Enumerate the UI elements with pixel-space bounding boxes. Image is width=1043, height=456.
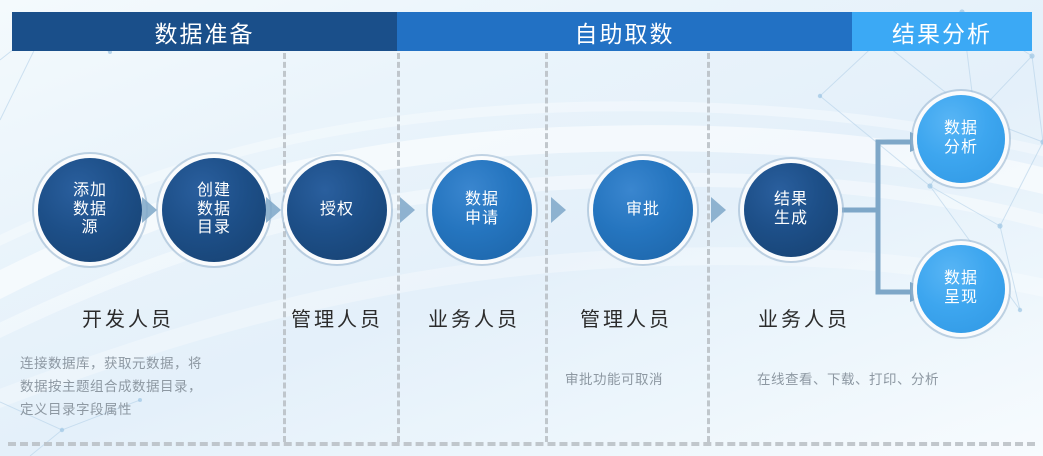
role-label-business-1: 业务人员 — [428, 303, 520, 332]
node-data-analysis-line-2: 分析 — [944, 139, 978, 158]
phase-header-analyze: 结果分析 — [852, 12, 1032, 51]
node-data-request-line-2: 申请 — [465, 210, 499, 229]
node-authorize[interactable]: 授权 — [287, 160, 387, 260]
description-result: 在线查看、下载、打印、分析 — [757, 368, 1027, 391]
node-data-presentation-line-2: 呈现 — [944, 289, 978, 308]
node-data-request-line-1: 数据 — [465, 191, 499, 210]
arrow-authorize-to-request-icon — [400, 197, 415, 223]
node-data-presentation[interactable]: 数据 呈现 — [917, 245, 1005, 333]
role-label-admin-2: 管理人员 — [580, 303, 672, 332]
phase-header-analyze-label: 结果分析 — [892, 15, 992, 49]
phase-header-fetch: 自助取数 — [397, 12, 852, 51]
node-add-source-line-2: 数据 — [73, 201, 107, 220]
node-add-source-line-1: 添加 — [73, 182, 107, 201]
description-approval: 审批功能可取消 — [565, 368, 715, 391]
arrow-approval-to-result-icon — [711, 197, 726, 223]
node-authorize-line-1: 授权 — [320, 201, 354, 220]
node-result-generation-line-2: 生成 — [774, 210, 808, 229]
node-approval-line-1: 审批 — [626, 201, 660, 220]
arrow-catalog-to-authorize-icon — [266, 197, 281, 223]
arrow-request-to-approval-icon — [551, 197, 566, 223]
description-prepare: 连接数据库，获取元数据，将 数据按主题组合成数据目录， 定义目录字段属性 — [20, 352, 280, 422]
bottom-divider — [8, 442, 1035, 446]
node-approval[interactable]: 审批 — [593, 160, 693, 260]
node-data-analysis[interactable]: 数据 分析 — [917, 95, 1005, 183]
role-label-business-2: 业务人员 — [758, 303, 850, 332]
node-create-catalog-line-2: 数据 — [197, 201, 231, 220]
node-add-source[interactable]: 添加 数据 源 — [38, 158, 142, 262]
node-result-generation-line-1: 结果 — [774, 191, 808, 210]
node-create-catalog-line-3: 目录 — [197, 219, 231, 238]
role-label-admin-1: 管理人员 — [291, 303, 383, 332]
arrow-add-to-catalog-icon — [142, 197, 157, 223]
divider-3 — [545, 53, 548, 442]
node-create-catalog[interactable]: 创建 数据 目录 — [162, 158, 266, 262]
diagram-canvas: 数据准备 自助取数 结果分析 添加 数据 源 创建 数据 目录 — [0, 0, 1043, 456]
role-label-developer-1: 开发人员 — [82, 303, 174, 332]
phase-header-prepare-label: 数据准备 — [155, 15, 255, 49]
node-data-analysis-line-1: 数据 — [944, 120, 978, 139]
divider-1 — [283, 53, 286, 442]
node-add-source-line-3: 源 — [73, 219, 107, 238]
phase-header-fetch-label: 自助取数 — [575, 15, 675, 49]
node-result-generation[interactable]: 结果 生成 — [744, 163, 838, 257]
phase-header-prepare: 数据准备 — [12, 12, 397, 51]
divider-2 — [397, 53, 400, 442]
node-data-presentation-line-1: 数据 — [944, 270, 978, 289]
node-create-catalog-line-1: 创建 — [197, 182, 231, 201]
node-data-request[interactable]: 数据 申请 — [432, 160, 532, 260]
